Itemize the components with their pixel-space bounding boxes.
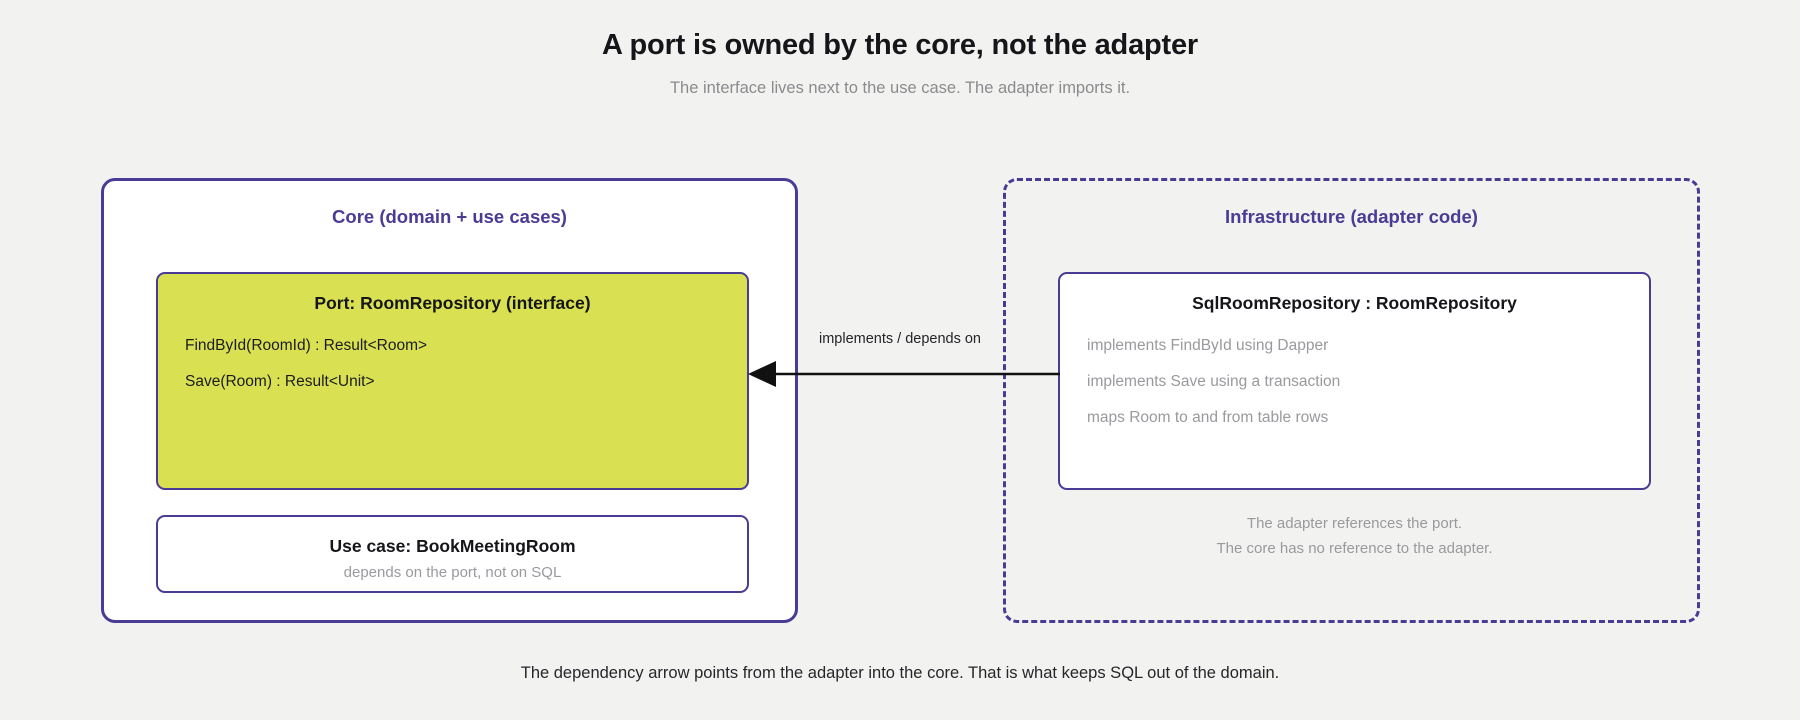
adapter-detail-item: implements Save using a transaction bbox=[1087, 372, 1649, 392]
core-panel-title: Core (domain + use cases) bbox=[104, 206, 795, 228]
diagram-canvas: A port is owned by the core, not the ada… bbox=[0, 0, 1800, 720]
dependency-connector: implements / depends on bbox=[740, 330, 1060, 400]
infrastructure-panel-title: Infrastructure (adapter code) bbox=[1006, 206, 1697, 228]
infrastructure-panel: Infrastructure (adapter code) SqlRoomRep… bbox=[1003, 178, 1700, 623]
infrastructure-note-line-2: The core has no reference to the adapter… bbox=[1006, 536, 1703, 561]
adapter-detail-item: maps Room to and from table rows bbox=[1087, 408, 1649, 428]
header: A port is owned by the core, not the ada… bbox=[0, 28, 1800, 98]
port-card: Port: RoomRepository (interface) FindByI… bbox=[156, 272, 749, 490]
port-method-list: FindById(RoomId) : Result<Room> Save(Roo… bbox=[158, 336, 747, 392]
usecase-card: Use case: BookMeetingRoom depends on the… bbox=[156, 515, 749, 593]
usecase-card-subtitle: depends on the port, not on SQL bbox=[158, 563, 747, 582]
connector-label: implements / depends on bbox=[740, 330, 1060, 348]
core-panel: Core (domain + use cases) Port: RoomRepo… bbox=[101, 178, 798, 623]
port-card-title: Port: RoomRepository (interface) bbox=[158, 292, 747, 314]
figure-caption: The dependency arrow points from the ada… bbox=[0, 663, 1800, 684]
adapter-card: SqlRoomRepository : RoomRepository imple… bbox=[1058, 272, 1651, 490]
usecase-card-title: Use case: BookMeetingRoom bbox=[158, 535, 747, 557]
port-method-item: FindById(RoomId) : Result<Room> bbox=[185, 336, 747, 356]
adapter-detail-item: implements FindById using Dapper bbox=[1087, 336, 1649, 356]
infrastructure-note-line-1: The adapter references the port. bbox=[1006, 511, 1703, 536]
page-title: A port is owned by the core, not the ada… bbox=[0, 28, 1800, 62]
infrastructure-note: The adapter references the port. The cor… bbox=[1006, 511, 1703, 561]
adapter-detail-list: implements FindById using Dapper impleme… bbox=[1060, 336, 1649, 428]
page-subtitle: The interface lives next to the use case… bbox=[0, 78, 1800, 98]
adapter-card-title: SqlRoomRepository : RoomRepository bbox=[1060, 292, 1649, 314]
port-method-item: Save(Room) : Result<Unit> bbox=[185, 372, 747, 392]
